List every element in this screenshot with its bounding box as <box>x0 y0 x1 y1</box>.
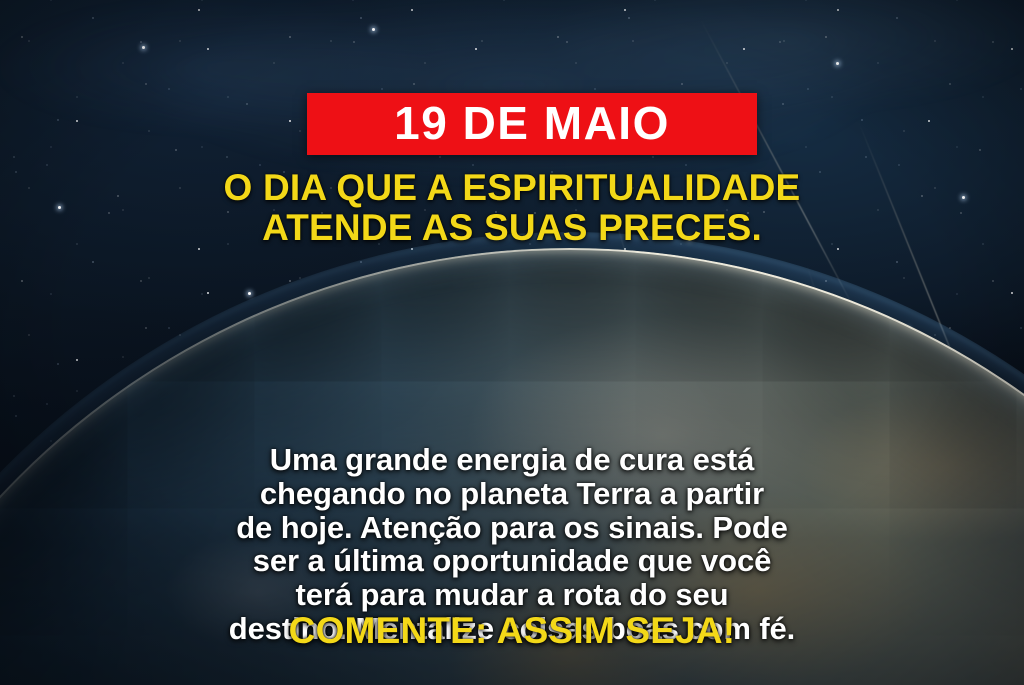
date-banner: 19 DE MAIO <box>307 93 757 155</box>
date-banner-label: 19 DE MAIO <box>394 100 670 146</box>
body-line-5: terá para mudar a rota do seu <box>0 578 1024 612</box>
poster-image: 19 DE MAIO O DIA QUE A ESPIRITUALIDADE A… <box>0 0 1024 685</box>
headline: O DIA QUE A ESPIRITUALIDADE ATENDE AS SU… <box>0 168 1024 249</box>
body-line-4: ser a última oportunidade que você <box>0 544 1024 578</box>
poster-content: 19 DE MAIO O DIA QUE A ESPIRITUALIDADE A… <box>0 0 1024 685</box>
headline-line-1: O DIA QUE A ESPIRITUALIDADE <box>0 168 1024 208</box>
body-line-2: chegando no planeta Terra a partir <box>0 477 1024 511</box>
body-line-1: Uma grande energia de cura está <box>0 443 1024 477</box>
headline-line-2: ATENDE AS SUAS PRECES. <box>0 208 1024 248</box>
body-line-3: de hoje. Atenção para os sinais. Pode <box>0 511 1024 545</box>
call-to-action-text: COMENTE: ASSIM SEJA! <box>0 612 1024 651</box>
